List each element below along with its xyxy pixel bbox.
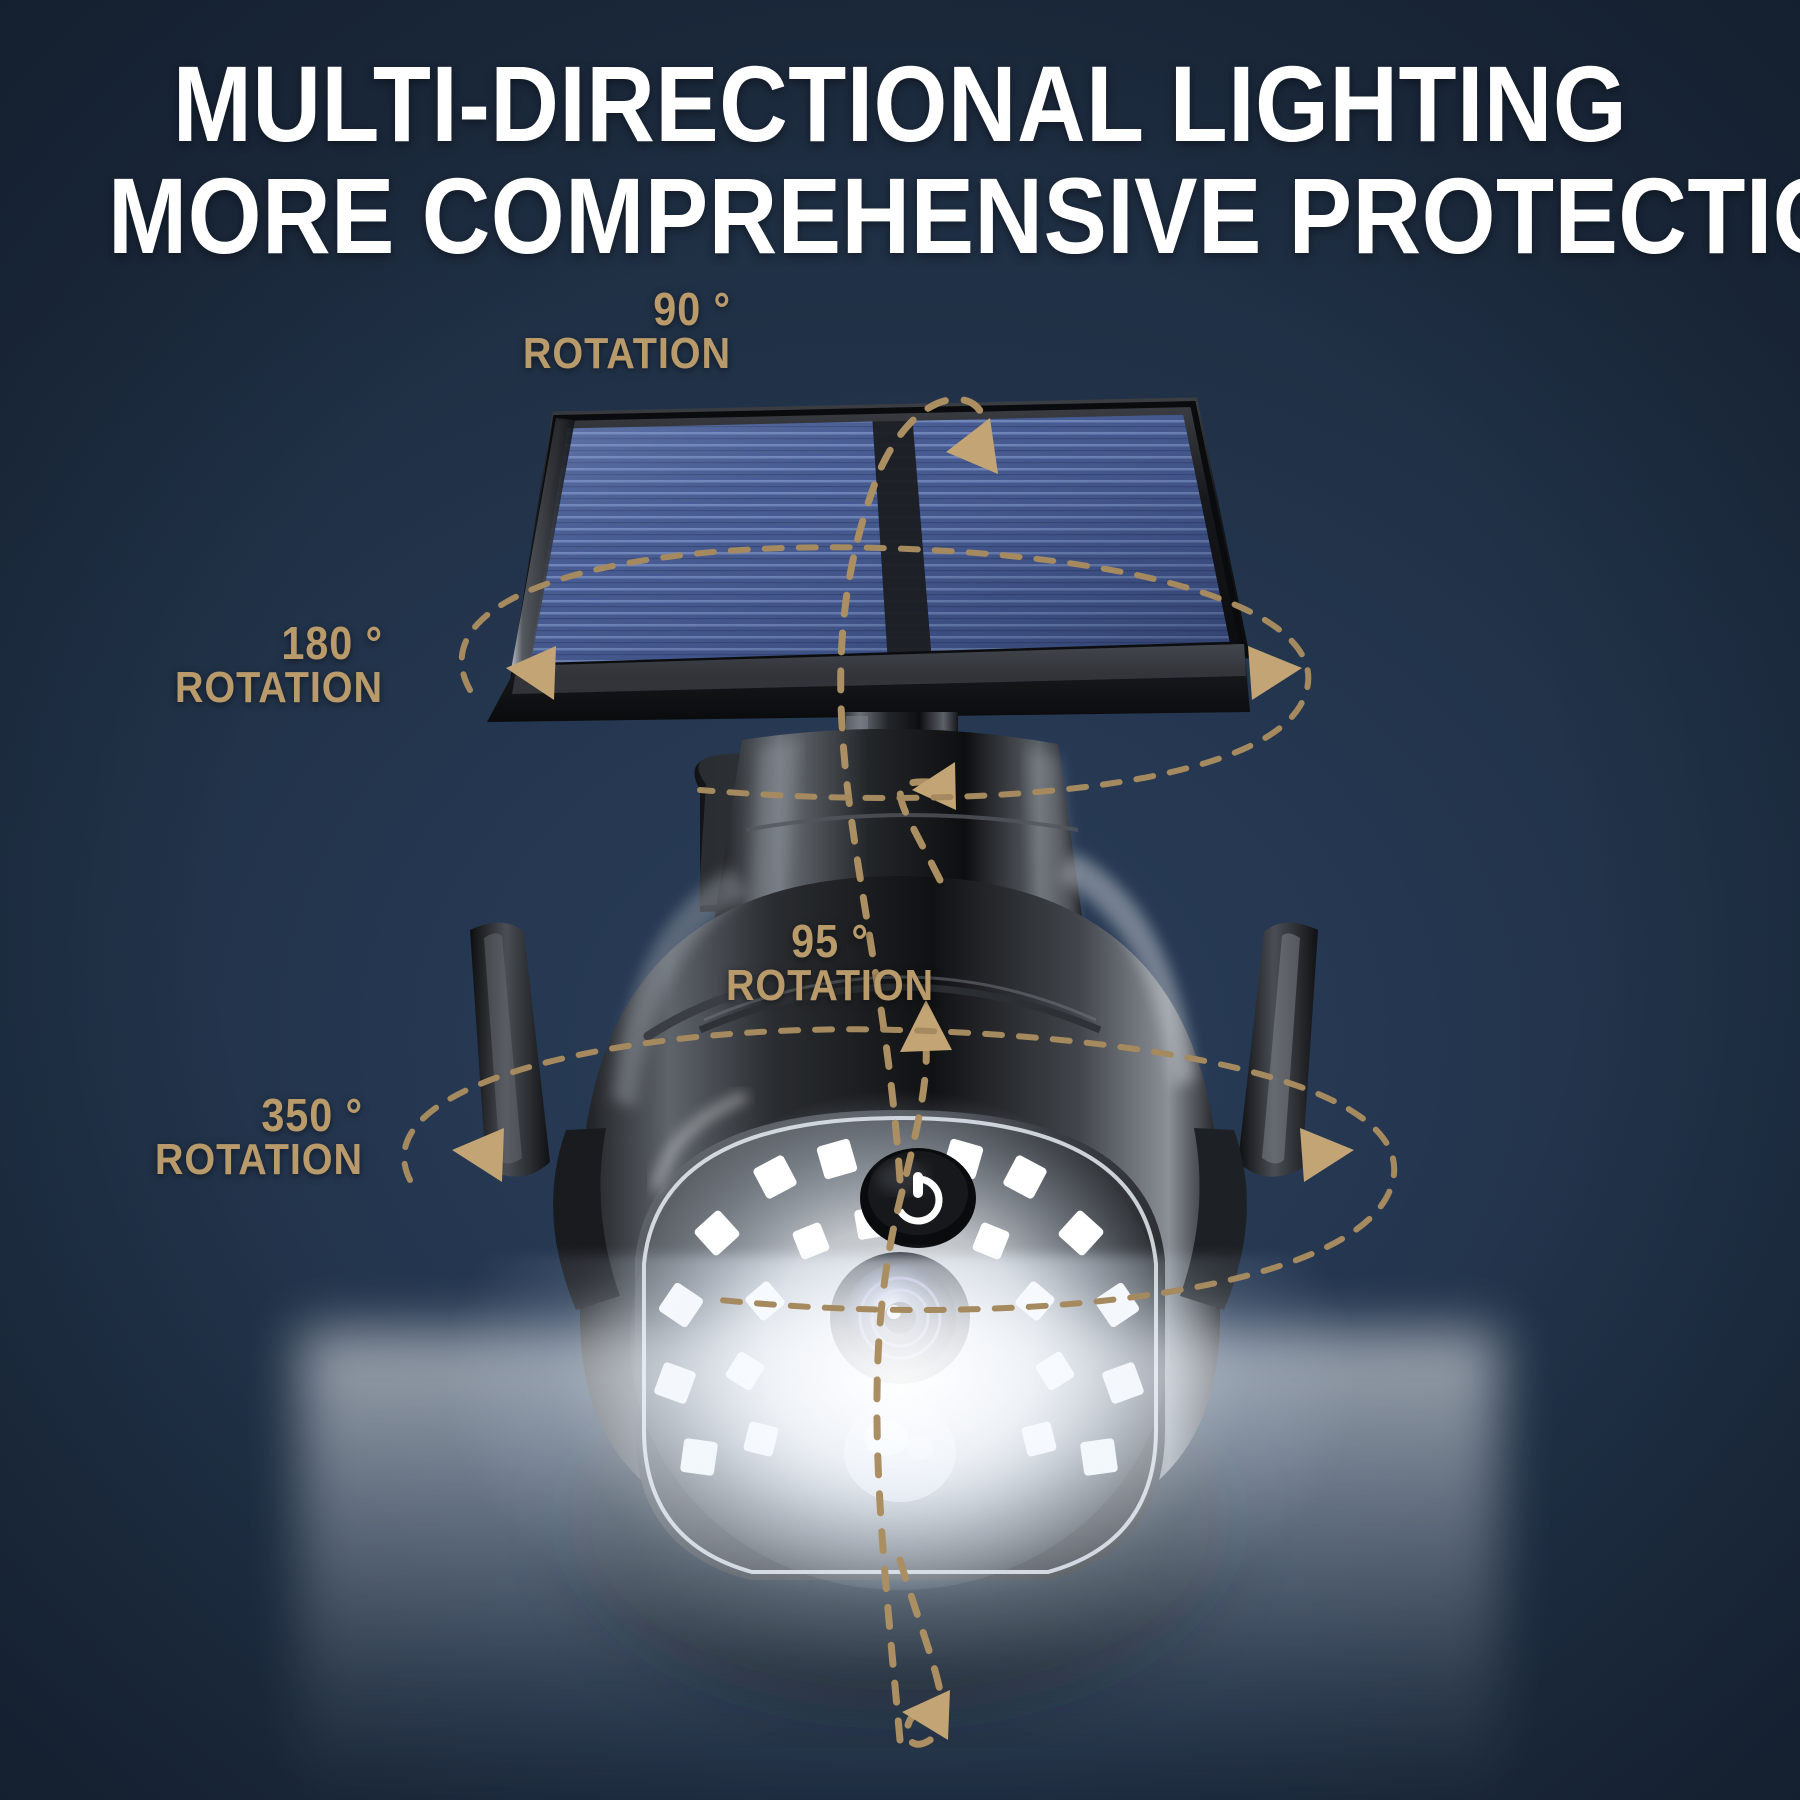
callout-350-label: ROTATION <box>57 1138 363 1182</box>
callout-180-label: ROTATION <box>77 666 383 710</box>
callout-rotation-95: 95 ° ROTATION <box>668 918 992 1008</box>
callout-90-label: ROTATION <box>461 332 731 376</box>
product-illustration <box>0 0 1800 1800</box>
antenna-right <box>1238 922 1318 1176</box>
callout-95-value: 95 ° <box>668 918 992 964</box>
callout-95-label: ROTATION <box>668 964 992 1008</box>
callout-rotation-180: 180 ° ROTATION <box>77 620 383 710</box>
callout-rotation-350: 350 ° ROTATION <box>57 1092 363 1182</box>
power-button[interactable] <box>860 1148 976 1248</box>
callout-180-value: 180 ° <box>77 620 383 666</box>
callout-rotation-90: 90 ° ROTATION <box>461 286 731 376</box>
callout-90-value: 90 ° <box>461 286 731 332</box>
solar-panel <box>487 404 1250 722</box>
pir-sensor <box>844 1402 956 1502</box>
callout-350-value: 350 ° <box>57 1092 363 1138</box>
antenna-left <box>470 922 550 1176</box>
infographic-canvas: MULTI-DIRECTIONAL LIGHTING MORE COMPREHE… <box>0 0 1800 1800</box>
camera-lens <box>830 1252 970 1384</box>
